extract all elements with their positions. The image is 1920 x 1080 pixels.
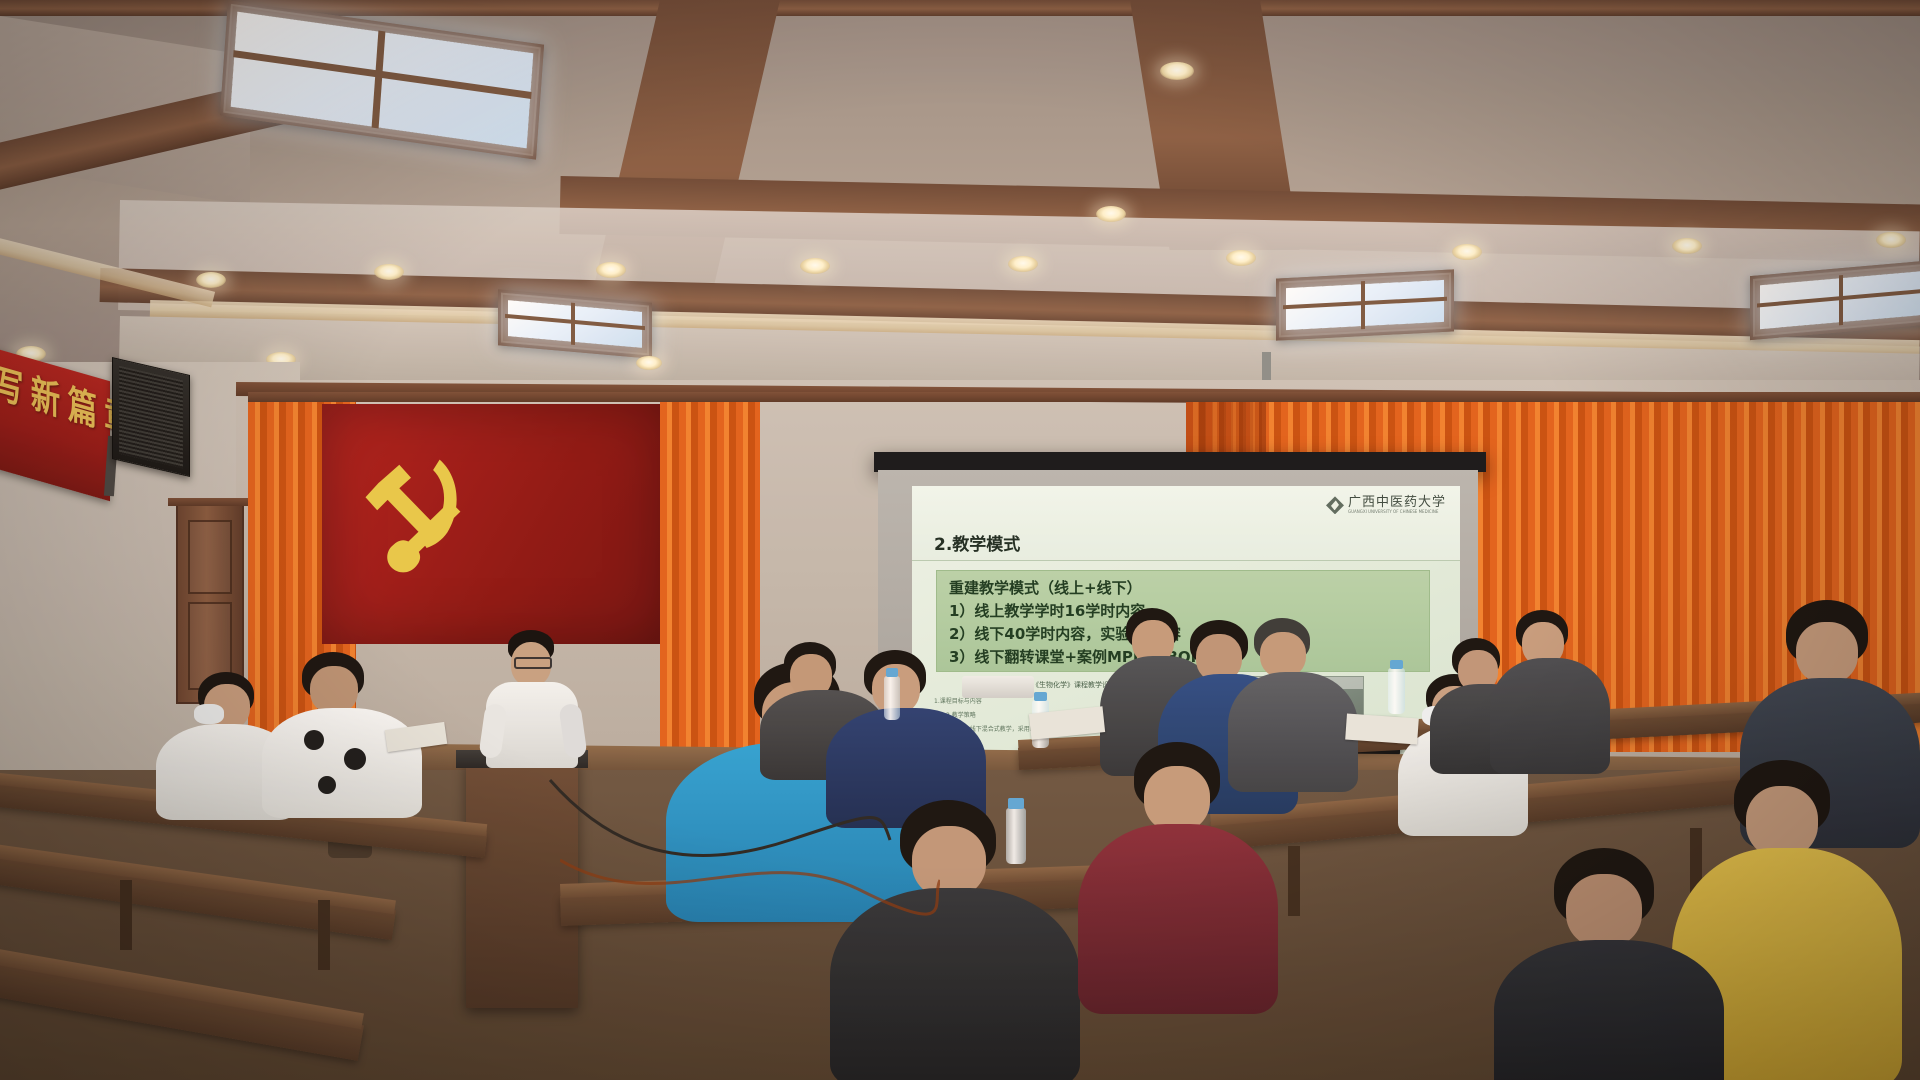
downlight-icon	[800, 258, 830, 274]
ceiling-light-fixture-3	[1276, 269, 1454, 340]
downlight-icon	[1160, 62, 1194, 80]
water-bottle	[1006, 808, 1026, 864]
bottle-cap	[1034, 692, 1047, 701]
downlight-icon	[1226, 250, 1256, 266]
curtain-rail	[248, 392, 1920, 402]
bottle-cap	[1008, 798, 1024, 809]
audience-member	[1078, 742, 1278, 1002]
party-flag	[322, 404, 668, 644]
logo-subtitle: GUANGXI UNIVERSITY OF CHINESE MEDICINE	[1348, 510, 1446, 514]
audience-member	[1490, 610, 1610, 760]
hammer-sickle-icon	[346, 444, 476, 574]
logo-name: 广西中医药大学	[1348, 496, 1446, 510]
door-frame	[168, 498, 248, 506]
slide-line-1: 重建教学模式（线上+线下）	[949, 577, 1142, 598]
paper-sheet	[1345, 714, 1419, 745]
wall-speaker	[112, 357, 190, 477]
face-mask-icon	[194, 704, 224, 724]
desk-device	[962, 676, 1034, 698]
downlight-icon	[1672, 238, 1702, 254]
desk-leg	[120, 880, 132, 950]
water-bottle	[1388, 668, 1405, 714]
downlight-icon	[374, 264, 404, 280]
bottle-cap	[886, 668, 898, 677]
audience-member	[1494, 848, 1724, 1080]
eyeglasses-icon	[514, 657, 552, 669]
downlight-icon	[636, 356, 662, 370]
water-bottle	[884, 676, 900, 720]
downlight-icon	[1096, 206, 1126, 222]
slide-title: 2.教学模式	[934, 530, 1020, 555]
logo-mark-icon	[1326, 496, 1344, 514]
presenter	[480, 630, 590, 770]
downlight-icon	[1876, 232, 1906, 248]
desk-leg	[318, 900, 330, 970]
downlight-icon	[596, 262, 626, 278]
bottle-cap	[1390, 660, 1403, 669]
floor-cable-2	[560, 830, 940, 920]
downlight-icon	[196, 272, 226, 288]
desk-leg	[1288, 846, 1300, 916]
downlight-icon	[1008, 256, 1038, 272]
lecture-hall-photo: 写新篇章	[0, 0, 1920, 1080]
downlight-icon	[1452, 244, 1482, 260]
projection-screen-housing	[874, 452, 1486, 472]
university-logo: 广西中医药大学 GUANGXI UNIVERSITY OF CHINESE ME…	[1326, 496, 1446, 515]
